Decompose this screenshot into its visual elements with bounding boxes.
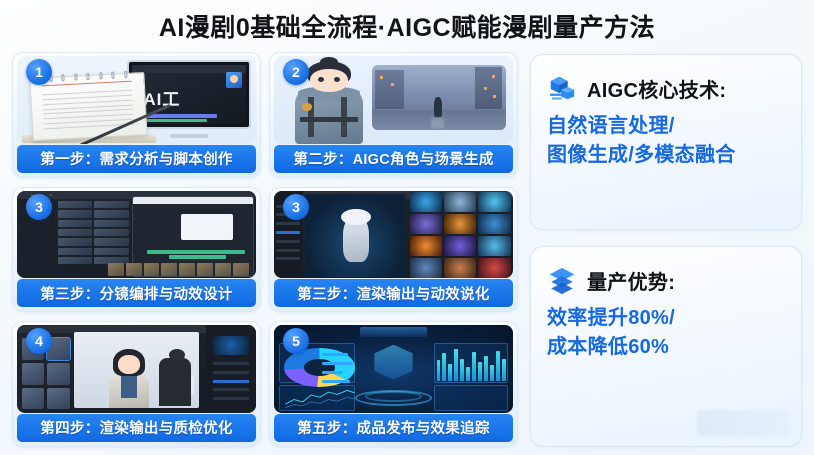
- storyboard-thumbnail-grid: [58, 201, 130, 264]
- bar-chart: [437, 345, 506, 382]
- step-caption: 第三步：分镜编排与动效设计: [17, 279, 256, 307]
- step-art-character-city: [274, 56, 513, 144]
- step-caption: 第五步：成品发布与效果追踪: [274, 414, 513, 442]
- page-title: AI漫剧0基础全流程·AIGC赋能漫剧量产方法: [159, 8, 655, 44]
- info-panel-title: 量产优势:: [587, 266, 675, 295]
- step-card-1[interactable]: 1 AI工: [12, 52, 261, 178]
- step-card-3[interactable]: 3 第三步：分镜编排与动效: [12, 187, 261, 313]
- info-panel-title: AIGC核心技术:: [587, 74, 726, 103]
- timeline-thumbnails: [108, 263, 249, 275]
- info-panels: AIGC核心技术: 自然语言处理/ 图像生成/多模态融合 量产优势: 效率提升8…: [530, 52, 802, 447]
- info-line: 效率提升80%/: [547, 304, 787, 333]
- step-caption: 第四步：渲染输出与质检优化: [17, 414, 256, 442]
- info-panel-core-tech: AIGC核心技术: 自然语言处理/ 图像生成/多模态融合: [530, 54, 802, 230]
- step-caption: 第二步：AIGC角色与场景生成: [274, 145, 513, 173]
- info-line: 成本降低60%: [547, 333, 787, 362]
- step-art-analytics-dashboard: [274, 325, 513, 413]
- step-caption: 第三步：渲染输出与动效说化: [274, 279, 513, 307]
- info-panel-advantages: 量产优势: 效率提升80%/ 成本降低60%: [530, 246, 802, 447]
- step-art-notebook-monitor: AI工: [17, 56, 256, 144]
- notebook-illustration: [30, 72, 148, 141]
- info-line: 图像生成/多模态融合: [547, 141, 787, 170]
- astronaut-preview: [305, 194, 405, 276]
- step-badge: 3: [26, 194, 52, 220]
- title-bar: AI漫剧0基础全流程·AIGC赋能漫剧量产方法: [0, 0, 814, 52]
- info-line: 自然语言处理/: [547, 112, 787, 141]
- step-art-character-qc-editor: [17, 325, 256, 413]
- step-caption: 第一步：需求分析与脚本创作: [17, 145, 256, 173]
- render-preview: [74, 332, 198, 407]
- step-art-storyboard-editor: [17, 191, 256, 279]
- step-badge: 2: [283, 59, 309, 85]
- cube-icon: [547, 73, 577, 103]
- rainy-city-scene: [372, 65, 506, 130]
- dashboard-title-plate: [360, 327, 427, 337]
- steps-grid: 1 AI工: [12, 52, 518, 447]
- main-content: 1 AI工: [0, 52, 814, 455]
- avatar-icon: [226, 72, 242, 88]
- layers-icon: [547, 265, 577, 295]
- line-chart: [284, 387, 356, 410]
- step-art-render-gallery: [274, 191, 513, 279]
- watermark: [697, 410, 789, 436]
- step-badge: 3: [283, 194, 309, 220]
- step-badge: 1: [26, 59, 52, 85]
- render-gallery-grid: [410, 192, 510, 278]
- step-card-5[interactable]: 4: [12, 321, 261, 447]
- step-card-2[interactable]: 2: [269, 52, 518, 178]
- step-card-6[interactable]: 5: [269, 321, 518, 447]
- step-card-4[interactable]: 3: [269, 187, 518, 313]
